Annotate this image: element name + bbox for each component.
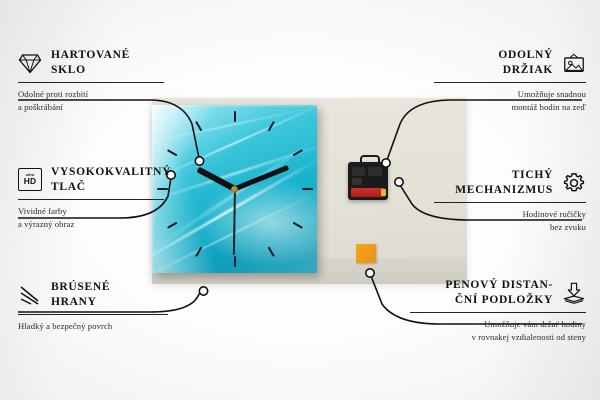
feature-tempered-glass: HARTOVANÉ SKLO Odolné proti rozbití a po…: [18, 48, 164, 113]
feature-title: ODOLNÝ DRŽIAK: [498, 48, 553, 77]
glass-clock-face: [152, 105, 317, 273]
feature-description: Vividné farby a výrazný obraz: [18, 205, 164, 229]
feature-divider: [18, 314, 168, 315]
feature-divider: [434, 82, 586, 83]
mechanism-detail: [352, 167, 365, 176]
clock-tick: [235, 188, 313, 190]
feature-divider: [18, 199, 164, 200]
feature-divider: [18, 82, 164, 83]
feature-description: Odolné proti rozbití a poškrábání: [18, 88, 164, 112]
arrow-down-layers-icon: [562, 281, 586, 305]
feature-foam-spacers: PENOVÝ DISTAN- ČNÍ PODLOŽKY Umožňuje vám…: [410, 278, 586, 343]
feature-description: Umožňuje snadnou montáž hodin na zeď: [434, 88, 586, 112]
diagonal-lines-icon: [18, 283, 42, 307]
feature-divider: [434, 202, 586, 203]
foam-spacer-pad: [356, 244, 376, 263]
feature-header: ODOLNÝ DRŽIAK: [434, 48, 586, 77]
feature-title: BRÚSENÉ HRANY: [51, 280, 110, 309]
battery: [351, 188, 385, 197]
feature-hd-print: ultra HD VYSOKOKVALITNÝ TLAČ Vividné far…: [18, 165, 164, 230]
feature-description: Hodinové ručičky bez zvuku: [434, 208, 586, 232]
feature-title: HARTOVANÉ SKLO: [51, 48, 130, 77]
feature-header: HARTOVANÉ SKLO: [18, 48, 164, 77]
gear-icon: [562, 171, 586, 195]
feature-header: PENOVÝ DISTAN- ČNÍ PODLOŽKY: [410, 278, 586, 307]
feature-description: Umožňuje vám držať hodiny v rovnakej vzd…: [410, 318, 586, 342]
feature-header: BRÚSENÉ HRANY: [18, 280, 168, 309]
feature-polished-edges: BRÚSENÉ HRANY Hladký a bezpečný povrch: [18, 280, 168, 333]
mechanism-detail: [352, 178, 362, 185]
framed-picture-icon: [562, 51, 586, 75]
clock-mechanism: [348, 162, 388, 200]
clock-center-pin: [231, 186, 238, 193]
feature-divider: [410, 312, 586, 313]
feature-title: PENOVÝ DISTAN- ČNÍ PODLOŽKY: [445, 278, 553, 307]
product-infographic: HARTOVANÉ SKLO Odolné proti rozbití a po…: [0, 0, 600, 400]
feature-header: TICHÝ MECHANIZMUS: [434, 168, 586, 197]
ultra-hd-icon: ultra HD: [18, 168, 42, 192]
diamond-icon: [18, 51, 42, 75]
feature-description: Hladký a bezpečný povrch: [18, 320, 168, 332]
feature-title: TICHÝ MECHANIZMUS: [455, 168, 553, 197]
mechanism-detail: [368, 167, 382, 176]
feature-title: VYSOKOKVALITNÝ TLAČ: [51, 165, 171, 194]
feature-durable-holder: ODOLNÝ DRŽIAK Umožňuje snadnou montáž ho…: [434, 48, 586, 113]
feature-silent-mechanism: TICHÝ MECHANIZMUS Hodinové ručičky bez z…: [434, 168, 586, 233]
feature-header: ultra HD VYSOKOKVALITNÝ TLAČ: [18, 165, 164, 194]
product-photo: [152, 98, 467, 284]
clock-second-hand: [232, 189, 235, 255]
leader-endpoint-dot: [199, 287, 207, 295]
clock-tick: [234, 111, 236, 189]
